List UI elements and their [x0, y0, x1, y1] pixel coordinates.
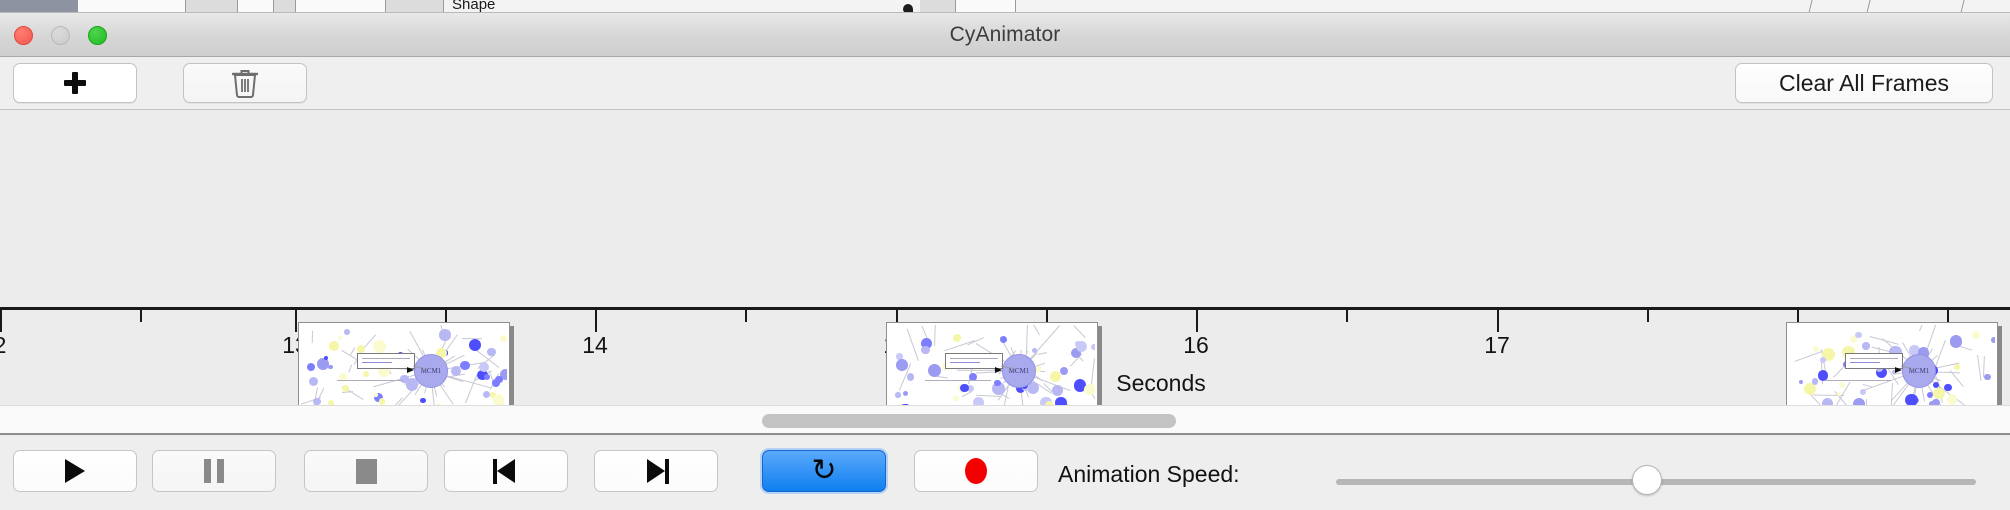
network-node: [1813, 346, 1819, 352]
background-segment: [238, 0, 274, 13]
network-node: [338, 336, 342, 340]
background-segment: [1866, 0, 1883, 13]
skip-forward-icon: [643, 459, 669, 484]
loop-button[interactable]: ↻: [762, 450, 886, 492]
network-node: [329, 341, 339, 351]
timeline-tick-label: 2: [0, 332, 6, 359]
play-icon: [65, 459, 85, 483]
background-segment: [1960, 0, 1977, 13]
network-edge: [1870, 336, 1899, 345]
timeline-tick-major: [595, 310, 597, 332]
add-frame-button[interactable]: [13, 63, 137, 103]
background-segment: [186, 0, 238, 13]
background-cursor-icon: [903, 4, 913, 13]
animation-speed-slider-thumb[interactable]: [1632, 465, 1662, 495]
network-edge: [1026, 325, 1028, 353]
background-segment: [1808, 0, 1825, 13]
timeline-axis: [0, 307, 2010, 310]
network-node: [439, 329, 450, 340]
timeline-tick-minor: [445, 310, 447, 322]
network-edge: [907, 329, 919, 361]
network-node: [1091, 344, 1095, 350]
toolbar: Clear All Frames: [0, 57, 2010, 110]
keyframe-timeline[interactable]: 2131415161718 MCM1MCM1MCM1 Seconds: [0, 110, 2010, 405]
background-window-label: Shape: [452, 0, 495, 13]
network-node: [379, 398, 386, 405]
background-window-tab: [0, 0, 78, 13]
network-node: [500, 335, 507, 342]
timeline-tick-label: 17: [1484, 332, 1510, 359]
background-window-strip: Shape: [0, 0, 2010, 13]
clear-all-frames-label: Clear All Frames: [1779, 70, 1949, 97]
network-edge: [1919, 325, 1924, 332]
cyanimator-window: Shape CyAnimator Clear All: [0, 0, 2010, 510]
network-node: [1950, 335, 1963, 348]
pause-icon: [204, 459, 224, 483]
tooltip-text-line: [1850, 362, 1880, 363]
network-node: [953, 334, 961, 342]
network-edge: [350, 347, 355, 355]
playback-control-bar: ↻ Animation Speed:: [0, 437, 2010, 510]
network-node: [1972, 331, 1980, 339]
network-node: [1000, 336, 1007, 343]
timeline-tick-minor: [140, 310, 142, 322]
timeline-tick-minor: [1947, 310, 1949, 322]
delete-frame-button[interactable]: [183, 63, 307, 103]
network-node: [344, 329, 350, 335]
scrollbar-thumb[interactable]: [762, 414, 1176, 428]
record-icon: [965, 458, 987, 484]
previous-frame-button[interactable]: [444, 450, 568, 492]
timeline-tick-major: [1497, 310, 1499, 332]
horizontal-scrollbar[interactable]: [0, 405, 2010, 435]
network-node: [973, 397, 984, 405]
network-edge: [1022, 325, 1039, 335]
background-segment: [920, 0, 956, 13]
network-node: [357, 345, 365, 353]
timeline-tick-minor: [1647, 310, 1649, 322]
timeline-tick-major: [0, 310, 2, 332]
pause-button[interactable]: [152, 450, 276, 492]
network-node: [921, 346, 929, 354]
network-node: [460, 361, 469, 370]
animation-speed-label: Animation Speed:: [1058, 461, 1240, 488]
next-frame-button[interactable]: [594, 450, 718, 492]
tooltip-text-line: [1850, 358, 1898, 359]
network-node: [469, 339, 481, 351]
background-segment: [386, 0, 444, 13]
network-edge: [922, 326, 928, 339]
network-edge: [1074, 325, 1086, 338]
network-node: [1855, 332, 1861, 338]
background-segment: [78, 0, 186, 13]
stop-icon: [356, 459, 377, 484]
network-node: [1055, 397, 1066, 405]
network-edge: [934, 325, 936, 346]
network-node: [1075, 341, 1081, 347]
network-edge: [1038, 352, 1047, 355]
record-button[interactable]: [914, 450, 1038, 492]
axis-title: Seconds: [0, 370, 2010, 397]
timeline-tick-major: [295, 310, 297, 332]
trash-icon: [232, 68, 258, 98]
network-node: [420, 398, 426, 404]
background-segment: [274, 0, 296, 13]
network-edge: [1794, 351, 1821, 362]
timeline-tick-label: 16: [1183, 332, 1209, 359]
timeline-tick-minor: [1046, 310, 1048, 322]
background-segment: [296, 0, 386, 13]
timeline-tick-minor: [1346, 310, 1348, 322]
network-node: [1862, 342, 1869, 349]
network-node: [328, 365, 332, 369]
timeline-tick-major: [1196, 310, 1198, 332]
background-segment: [956, 0, 1016, 13]
clear-all-frames-button[interactable]: Clear All Frames: [1735, 63, 1993, 103]
tooltip-text-line: [950, 362, 980, 363]
window-title: CyAnimator: [0, 23, 2010, 47]
plus-icon: [63, 71, 87, 95]
play-button[interactable]: [13, 450, 137, 492]
stop-button[interactable]: [304, 450, 428, 492]
network-edge: [312, 331, 313, 343]
network-node: [1820, 357, 1826, 363]
timeline-tick-minor: [745, 310, 747, 322]
title-bar[interactable]: CyAnimator: [0, 13, 2010, 57]
network-node: [373, 340, 386, 353]
network-node: [1822, 398, 1834, 405]
tooltip-text-line: [362, 362, 392, 363]
network-node: [1991, 337, 1995, 343]
network-node: [313, 398, 321, 405]
skip-back-icon: [493, 459, 519, 484]
timeline-tick-label: 14: [582, 332, 608, 359]
tooltip-text-line: [950, 358, 998, 359]
tooltip-text-line: [362, 358, 410, 359]
loop-icon: ↻: [811, 456, 836, 486]
network-node: [1853, 398, 1865, 405]
